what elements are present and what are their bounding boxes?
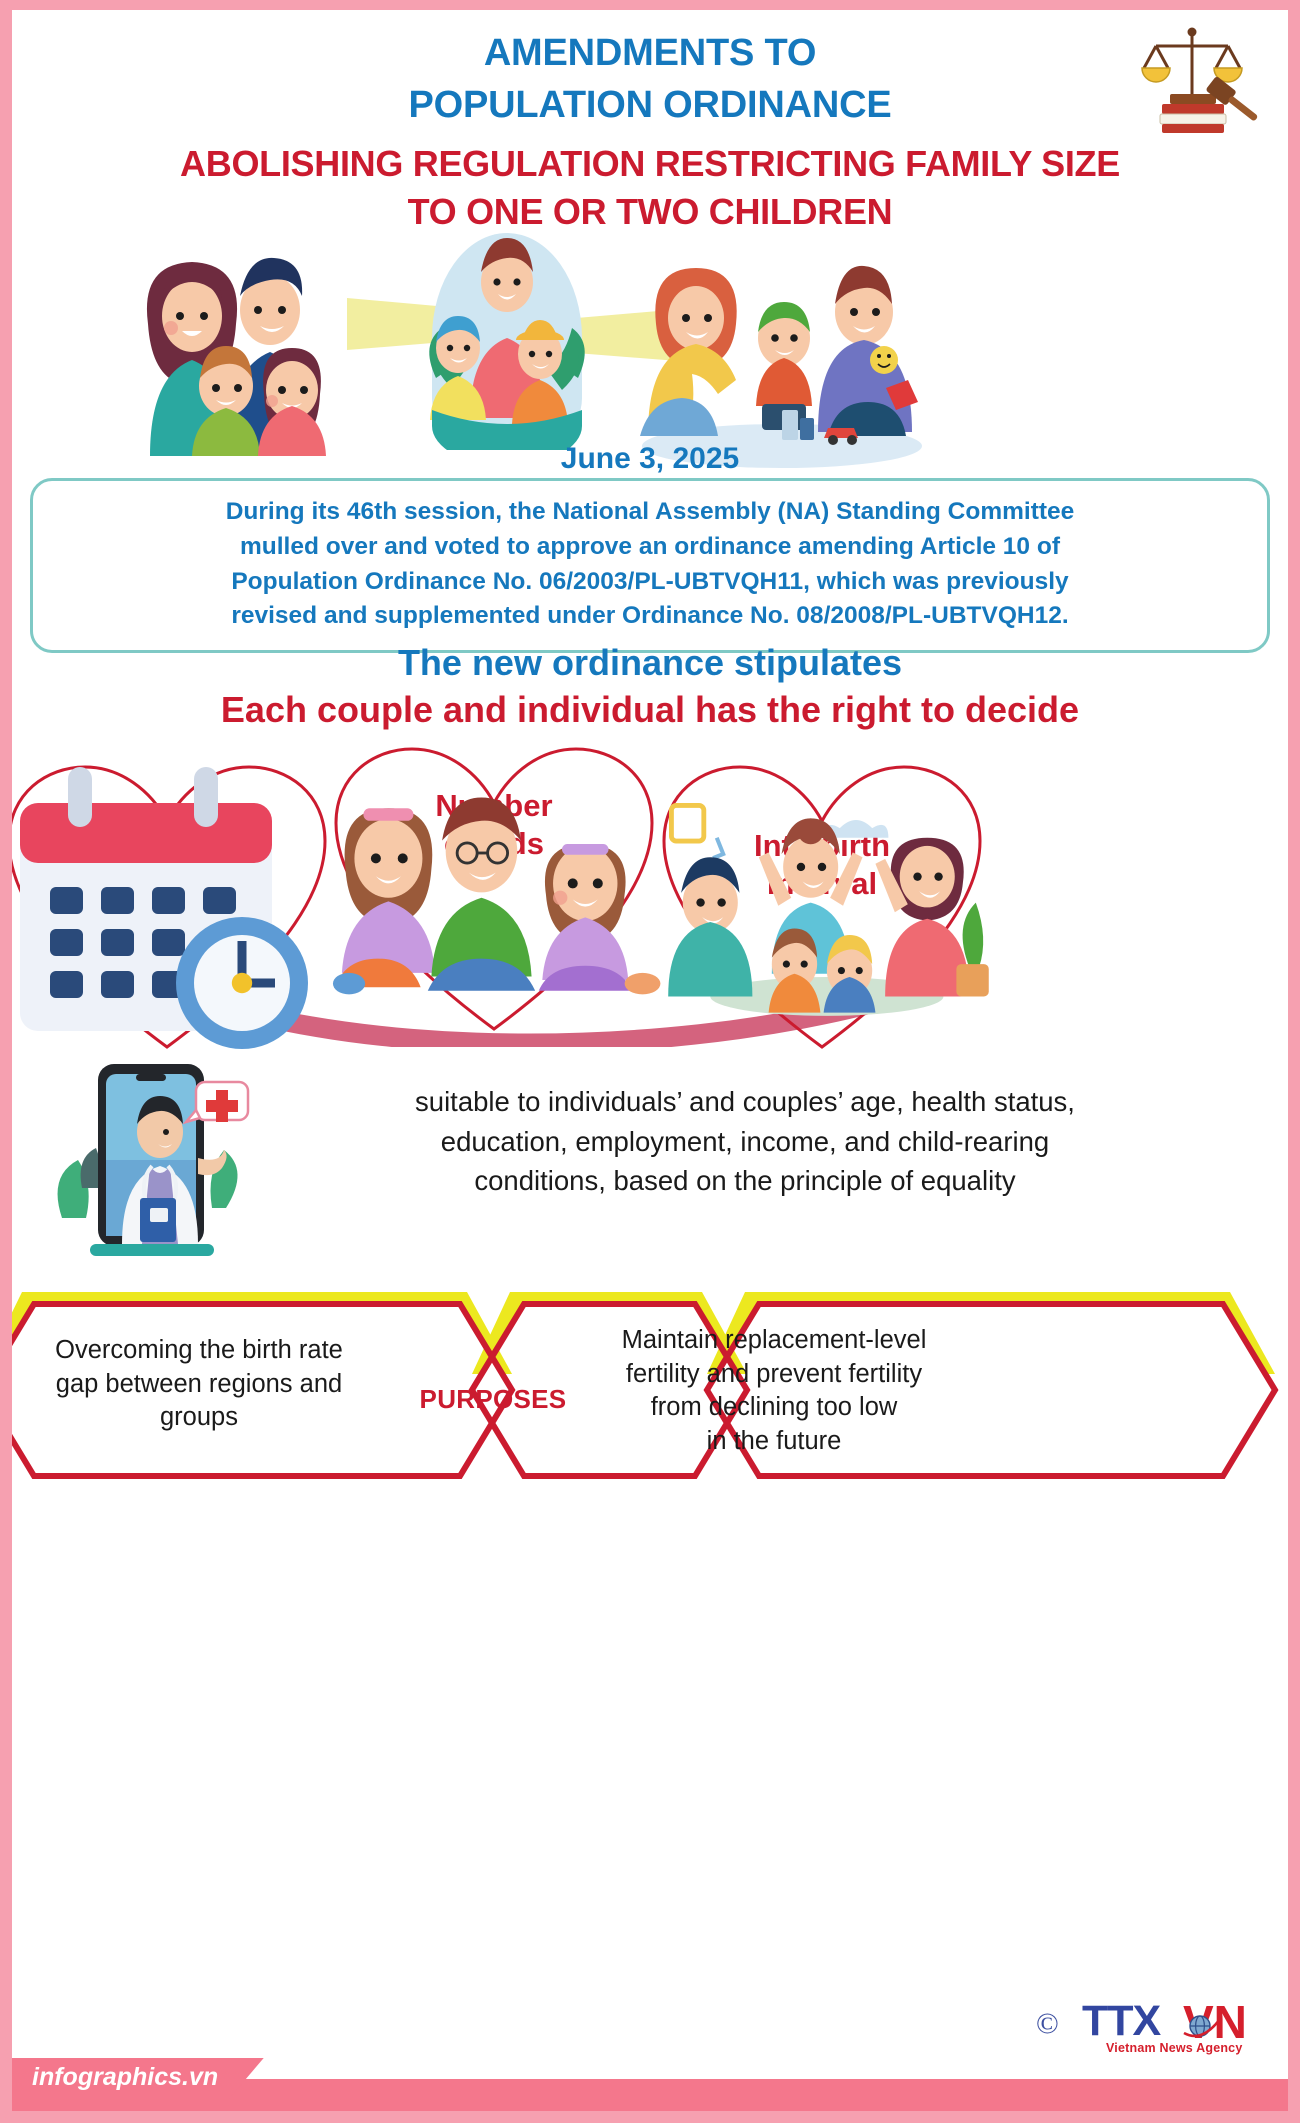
- doctor-on-phone-icon: [56, 1048, 256, 1263]
- scales-of-justice-gavel-icon: [1130, 24, 1260, 136]
- heart-card-interbirth-interval[interactable]: Interbirth interval: [652, 755, 992, 1055]
- page-frame: AMENDMENTS TO POPULATION ORDINANCE ABOLI…: [0, 0, 1300, 2123]
- globe-swoosh-icon: [1182, 2009, 1222, 2043]
- parents-playing-with-child-icon: [632, 246, 932, 468]
- family-of-four-icon: [130, 238, 355, 456]
- site-ribbon[interactable]: infographics.vn: [12, 2058, 264, 2100]
- intro-line-4: revised and supplemented under Ordinance…: [57, 599, 1243, 634]
- family-celebrating-icon: [652, 755, 992, 1055]
- purpose-right-line-1: Maintain replacement-level: [604, 1324, 944, 1358]
- family-outdoors-icon: [412, 228, 602, 450]
- suitable-line-1: suitable to individuals’ and couples’ ag…: [262, 1082, 1228, 1122]
- logo-subtitle: Vietnam News Agency: [1106, 2041, 1243, 2055]
- title-line-2: POPULATION ORDINANCE: [12, 80, 1288, 132]
- section-heading-red: Each couple and individual has the right…: [12, 689, 1288, 731]
- purposes-hexagon-row: Overcoming the birth rate gap between re…: [12, 1278, 1288, 1498]
- subtitle-line-1: ABOLISHING REGULATION RESTRICTING FAMILY…: [12, 140, 1288, 188]
- family-illustrations: [12, 228, 1288, 468]
- heart-card-time-to-give-birth[interactable]: Time to give birth: [12, 755, 337, 1055]
- three-kids-icon: [324, 737, 664, 1037]
- purpose-right-line-3: from declining too low: [604, 1391, 944, 1425]
- intro-line-3: Population Ordinance No. 06/2003/PL-UBTV…: [57, 565, 1243, 600]
- purpose-left-text: Overcoming the birth rate gap between re…: [34, 1334, 364, 1435]
- ttxvn-logo: © TTX VN Vietnam News Agency: [1036, 1993, 1266, 2059]
- intro-line-2: mulled over and voted to approve an ordi…: [57, 530, 1243, 565]
- infographic-canvas: AMENDMENTS TO POPULATION ORDINANCE ABOLI…: [12, 10, 1288, 2111]
- purpose-right-text: Maintain replacement-level fertility and…: [604, 1324, 944, 1459]
- logo-ttx-text: TTX: [1082, 1997, 1160, 2046]
- copyright-icon: ©: [1036, 2007, 1059, 2041]
- intro-line-1: During its 46th session, the National As…: [57, 495, 1243, 530]
- publication-date: June 3, 2025: [12, 442, 1288, 476]
- suitable-paragraph: suitable to individuals’ and couples’ ag…: [262, 1082, 1228, 1201]
- suitable-line-2: education, employment, income, and child…: [262, 1122, 1228, 1162]
- purpose-left-line-2: gap between regions and: [34, 1368, 364, 1402]
- heart-card-number-of-kids[interactable]: Number of kids: [324, 737, 664, 1037]
- suitable-line-3: conditions, based on the principle of eq…: [262, 1161, 1228, 1201]
- calendar-clock-icon: [12, 755, 337, 1055]
- purpose-right-line-2: fertility and prevent fertility: [604, 1358, 944, 1392]
- purpose-left-line-3: groups: [34, 1401, 364, 1435]
- purpose-left-line-1: Overcoming the birth rate: [34, 1334, 364, 1368]
- title-line-1: AMENDMENTS TO: [12, 28, 1288, 80]
- page-title: AMENDMENTS TO POPULATION ORDINANCE: [12, 28, 1288, 131]
- purpose-right-line-4: in the future: [604, 1425, 944, 1459]
- page-subtitle: ABOLISHING REGULATION RESTRICTING FAMILY…: [12, 140, 1288, 235]
- purposes-center-label: PURPOSES: [398, 1382, 588, 1416]
- rights-hearts-group: Time to give birth: [12, 745, 1288, 1055]
- intro-paragraph-box: During its 46th session, the National As…: [30, 478, 1270, 653]
- section-heading-blue: The new ordinance stipulates: [12, 642, 1288, 684]
